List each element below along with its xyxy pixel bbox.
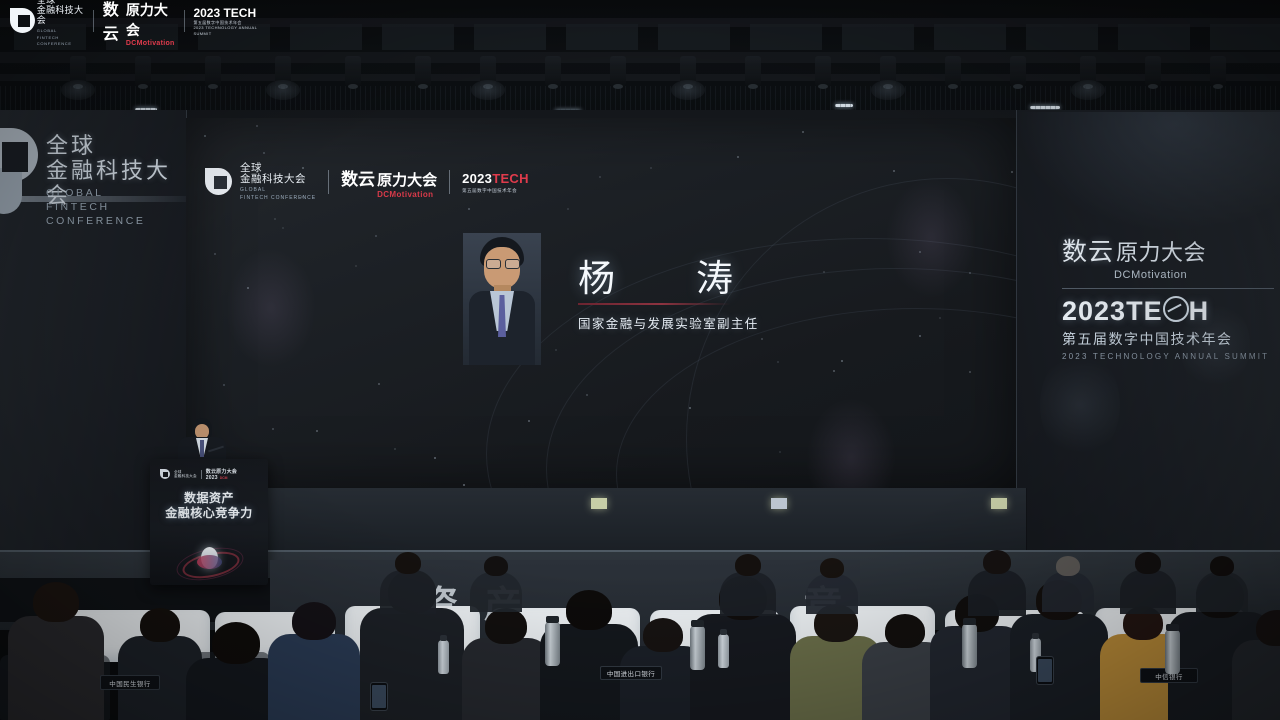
led-star-26	[394, 448, 396, 450]
audience-person-body-5	[462, 638, 550, 720]
presenter	[178, 418, 226, 464]
led-star-35	[689, 407, 691, 409]
led-brand-en1: GLOBAL	[240, 187, 316, 194]
stage-panel-light-2	[991, 498, 1007, 509]
audience-water-bottle-2	[438, 640, 449, 674]
audience-nameplate: 中国民生银行	[100, 675, 160, 690]
phone-screen	[372, 685, 386, 708]
speaker-name: 杨 涛	[578, 248, 755, 302]
stage-panel-2	[298, 488, 355, 550]
audience-person-body-3	[268, 634, 360, 720]
led-summit-cn: 第五届数字中国技术年会	[462, 188, 529, 194]
led-star-27	[463, 484, 465, 486]
left-wall-en-line1: GLOBAL	[46, 186, 174, 200]
led-star-39	[650, 167, 652, 169]
led-shuyun: 数云	[341, 165, 375, 190]
stage-row-person-body-4	[968, 570, 1026, 616]
broadcast-en2: FINTECH CONFERENCE	[37, 35, 84, 46]
podium-brand-left: 全球 金融科技大会	[174, 470, 197, 479]
stage-panel-8	[634, 488, 691, 550]
broadcast-shuyun-group: 数云 原力大会 DCMotivation	[103, 0, 175, 47]
led-star-38	[737, 156, 739, 158]
audience-person-body-8	[690, 614, 796, 720]
podium-brand-right: 数云原力大会 2023 DCM	[206, 468, 237, 481]
stage-light-17	[1210, 56, 1226, 86]
stage-light-5	[415, 56, 431, 86]
truss-box-5	[474, 24, 546, 50]
right-wall-yuanli: 原力大会	[1116, 235, 1206, 267]
audience-person-head-7	[643, 618, 683, 652]
fintech-mark-icon	[205, 168, 233, 196]
stage-panel-light-0	[591, 498, 607, 509]
stage-row-person-body-7	[1196, 572, 1248, 612]
audience-thermos-2	[1165, 630, 1180, 674]
broadcast-summit-en: 2023 TECHNOLOGY ANNUAL SUMMIT	[193, 25, 260, 36]
audience-phone-0	[370, 682, 388, 711]
right-wall-dcmotivation: DCMotivation	[1114, 269, 1274, 281]
led-brand-shuyun-group: 数云 原力大会 DCMotivation	[341, 165, 437, 199]
stage-light-11	[815, 56, 831, 86]
led-star-36	[204, 135, 206, 137]
stage-light-4	[345, 56, 361, 86]
stage-row-person-head-3	[820, 558, 844, 578]
broadcast-fintech-mark-icon	[10, 8, 31, 34]
stage-row-person-body-1	[470, 572, 522, 612]
portrait-glasses-right-icon	[505, 259, 520, 269]
led-star-6	[274, 218, 276, 220]
truss-box-4	[382, 24, 454, 50]
broadcast-en1: GLOBAL	[37, 28, 84, 34]
audience-person-head-5	[485, 608, 527, 644]
audience-person-body-0	[8, 616, 104, 720]
tech-e-ball-icon	[1163, 296, 1189, 322]
led-star-45	[586, 394, 588, 396]
led-star-16	[841, 360, 843, 362]
broadcast-shuyun: 数云	[103, 0, 124, 44]
audience-person-head-10	[885, 614, 925, 648]
led-star-43	[919, 335, 921, 337]
phone-screen	[1038, 659, 1052, 682]
led-star-3	[282, 227, 284, 229]
broadcast-logo-bar: 全球 金融科技大会 GLOBAL FINTECH CONFERENCE 数云 原…	[0, 0, 260, 42]
podium-logo-row: 全球 金融科技大会 数云原力大会 2023 DCM	[160, 468, 258, 480]
audience-person-head-2	[212, 622, 260, 664]
stage-row-person-head-1	[484, 556, 508, 576]
right-wall-glow	[1016, 112, 1280, 232]
audience-person-head-0	[33, 582, 79, 622]
stage-panel-9	[690, 488, 747, 550]
stage-lower-band	[186, 488, 1016, 550]
right-wall-summit-cn: 第五届数字中国技术年会	[1062, 329, 1274, 349]
podium-brand-right-cn: 数云原力大会	[206, 468, 237, 475]
led-brand-en2: FINTECH CONFERENCE	[240, 195, 316, 202]
stage-row-person-body-0	[380, 570, 436, 614]
truss-box-6	[566, 24, 638, 50]
led-year-tech: 2023TECH	[462, 170, 529, 188]
led-dcmotivation: DCMotivation	[377, 190, 437, 199]
audience-water-bottle-0	[718, 634, 729, 668]
stage-row-person-head-2	[735, 554, 761, 576]
stage-light-16	[1145, 56, 1161, 86]
stage-panel-6	[522, 488, 579, 550]
left-wall-en-line2: FINTECH CONFERENCE	[46, 200, 174, 228]
audience-thermos-3	[962, 624, 977, 668]
truss-box-10	[934, 24, 1006, 50]
audience-person-head-3	[292, 602, 336, 640]
broadcast-cn2: 金融科技大会	[37, 6, 84, 26]
truss-box-8	[750, 24, 822, 50]
audience-phone-1	[1036, 656, 1054, 685]
led-star-25	[223, 384, 225, 386]
stage-row-person-head-0	[395, 552, 421, 574]
podium-brand-dcm: DCM	[220, 476, 228, 480]
led-nebula-1	[886, 178, 976, 298]
led-star-7	[761, 338, 763, 340]
nebula-texture-1	[1040, 350, 1120, 460]
broadcast-yuanli: 原力大会	[126, 3, 168, 39]
broadcast-year-group: 2023 TECH 第五届数字中国技术年会 2023 TECHNOLOGY AN…	[193, 6, 260, 37]
audience-area: 中国民生银行中国进出口银行中信银行	[0, 560, 1280, 720]
bottle-cap	[720, 629, 727, 635]
led-star-4	[567, 208, 569, 210]
stage-panel-12	[858, 488, 915, 550]
stage-panel-4	[410, 488, 467, 550]
truss-box-11	[1026, 24, 1098, 50]
right-wall-tech-line: 2023TEH	[1062, 294, 1274, 327]
led-star-44	[939, 317, 941, 319]
left-wall-cn-line1: 全球	[46, 134, 174, 159]
right-wall-divider	[1062, 288, 1274, 289]
podium-divider	[201, 470, 202, 479]
led-star-0	[528, 420, 530, 422]
audience-person-head-6	[566, 590, 612, 630]
led-tech: TECH	[492, 171, 529, 186]
stage-light-2	[205, 56, 221, 86]
bottle-cap	[440, 635, 447, 641]
stage-row-person-body-5	[1042, 572, 1094, 612]
thermos-cap	[691, 620, 704, 627]
left-wall-sign-en: GLOBAL FINTECH CONFERENCE	[46, 186, 174, 228]
led-yuanli: 原力大会	[377, 171, 437, 189]
led-star-12	[823, 271, 825, 273]
audience-thermos-1	[690, 626, 705, 670]
conference-scene: 全球 金融科技大会 GLOBAL FINTECH CONFERENCE 数云 原…	[0, 0, 1280, 720]
stage-light-8	[610, 56, 626, 86]
led-brand-year-group: 2023TECH 第五届数字中国技术年会	[462, 170, 529, 194]
stage-light-10	[745, 56, 761, 86]
broadcast-year-tech: 2023 TECH	[193, 6, 260, 20]
speaker-portrait	[463, 233, 541, 365]
led-star-42	[802, 131, 804, 133]
led-star-33	[214, 253, 216, 255]
stage-row-person-body-2	[720, 572, 776, 616]
truss-box-12	[1118, 24, 1190, 50]
stage-light-13	[945, 56, 961, 86]
led-star-11	[272, 428, 274, 430]
stage-panel-11	[802, 488, 859, 550]
led-star-37	[256, 125, 258, 127]
led-star-13	[316, 430, 318, 432]
right-wall-summit-en: 2023 TECHNOLOGY ANNUAL SUMMIT	[1062, 352, 1274, 361]
led-star-15	[355, 265, 357, 267]
right-wall-sign: 数云 原力大会 DCMotivation 2023TEH 第五届数字中国技术年会…	[1062, 232, 1274, 361]
speaker-title: 国家金融与发展实验室副主任	[578, 313, 759, 332]
audience-person-body-15	[1232, 640, 1280, 720]
left-wall-sign: 全球 金融科技大会 GLOBAL FINTECH CONFERENCE	[0, 118, 174, 228]
right-wall-h: H	[1189, 296, 1210, 326]
podium-title: 数据资产 金融核心竞争力	[150, 491, 268, 521]
podium-brand-year: 2023	[206, 475, 218, 481]
audience-nameplate-label: 中国进出口银行	[607, 668, 655, 678]
right-wall-brand-row: 数云 原力大会	[1062, 232, 1274, 268]
right-wall-te: TE	[1126, 296, 1163, 326]
led-year: 2023	[462, 171, 492, 186]
led-nebula-0	[226, 248, 316, 368]
stage-row-person-head-5	[1056, 556, 1080, 576]
audience-thermos-0	[545, 622, 560, 666]
led-star-34	[555, 349, 557, 351]
presenter-tie	[200, 440, 204, 457]
thermos-cap	[546, 616, 559, 623]
podium-brand-cn2: 金融科技大会	[174, 474, 197, 478]
audience-nameplate-label: 中国民生银行	[109, 678, 150, 688]
stage-light-1	[135, 56, 151, 86]
stage-light-14	[1010, 56, 1026, 86]
led-star-24	[375, 235, 377, 237]
led-star-21	[1011, 171, 1013, 173]
led-star-8	[468, 208, 470, 210]
broadcast-divider-1	[93, 10, 94, 32]
led-star-32	[599, 176, 601, 178]
portrait-glasses-left-icon	[486, 259, 501, 269]
stage-row-person-head-7	[1210, 556, 1234, 576]
right-wall-year: 2023	[1062, 296, 1126, 326]
audience-nameplate: 中国进出口银行	[600, 666, 662, 680]
led-brand-cn2: 金融科技大会	[240, 174, 316, 185]
broadcast-dcmotivation: DCMotivation	[126, 40, 175, 47]
led-star-10	[263, 152, 265, 154]
led-header-divider-2	[449, 170, 450, 194]
led-star-19	[969, 272, 971, 274]
stage-row-person-body-3	[806, 574, 858, 614]
broadcast-left-text: 全球 金融科技大会 GLOBAL FINTECH CONFERENCE	[37, 0, 84, 46]
stage-light-7	[545, 56, 561, 86]
right-wall-shuyun: 数云	[1062, 232, 1114, 268]
led-star-2	[969, 371, 971, 373]
stage-panel-3	[354, 488, 411, 550]
podium-title-line1: 数据资产	[150, 491, 268, 506]
truss-box-13	[1210, 24, 1280, 50]
led-header-divider-1	[328, 170, 329, 194]
led-star-31	[434, 457, 436, 459]
led-star-9	[893, 170, 895, 172]
stage-row-person-head-6	[1135, 552, 1161, 574]
audience-person-body-12	[1010, 614, 1108, 720]
truss-box-7	[658, 24, 730, 50]
fintech-conference-logo-icon	[0, 128, 40, 214]
led-star-28	[777, 361, 779, 363]
stage-row-person-body-6	[1120, 570, 1176, 614]
led-star-14	[779, 451, 781, 453]
bottle-cap	[1032, 633, 1039, 639]
led-star-30	[378, 383, 380, 385]
podium-fintech-mark-icon	[160, 469, 170, 479]
audience-person-head-1	[140, 608, 180, 642]
podium-title-line2: 金融核心竞争力	[150, 506, 268, 521]
stage-panel-5	[466, 488, 523, 550]
led-header-logos: 全球 金融科技大会 GLOBAL FINTECH CONFERENCE 数云 原…	[205, 166, 529, 198]
led-star-22	[833, 370, 835, 372]
stage-panel-light-1	[771, 498, 787, 509]
led-brand-cn1: 全球	[240, 163, 316, 174]
stage-row-person-head-4	[983, 550, 1011, 574]
thermos-cap	[1166, 624, 1179, 631]
thermos-cap	[963, 618, 976, 625]
truss-box-9	[842, 24, 914, 50]
broadcast-divider-2	[184, 10, 185, 32]
truss-box-3	[290, 24, 362, 50]
speaker-name-underline	[578, 303, 730, 305]
led-brand-left: 全球 金融科技大会 GLOBAL FINTECH CONFERENCE	[240, 163, 316, 202]
stage-panel-13	[914, 488, 971, 550]
